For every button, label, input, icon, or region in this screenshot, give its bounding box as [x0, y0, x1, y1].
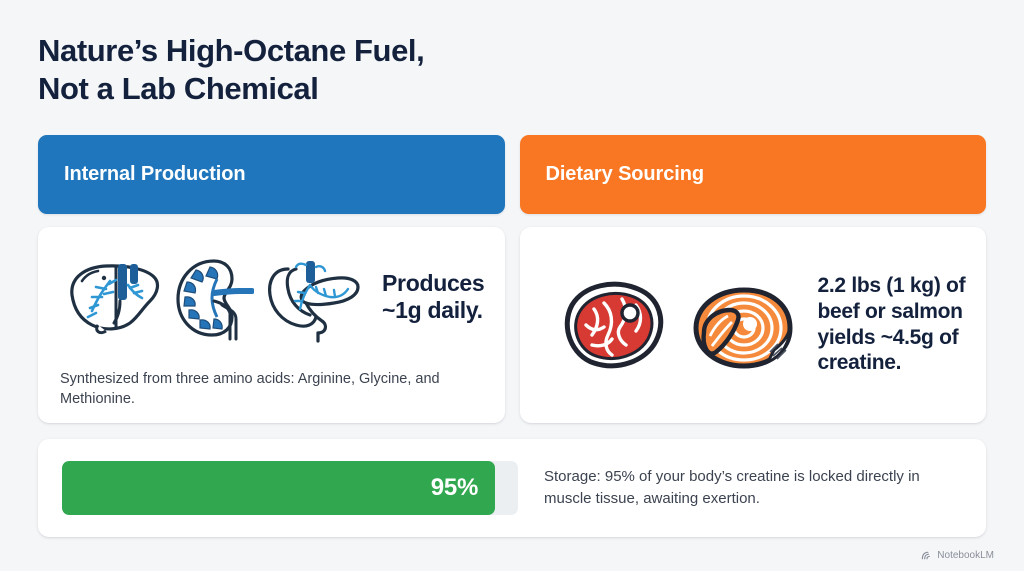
kidney-icon [170, 251, 254, 343]
storage-progress-fill: 95% [62, 461, 495, 515]
dietary-sourcing-headline: 2.2 lbs (1 kg) of beef or salmon yields … [818, 273, 967, 375]
storage-progress-wrapper: 95% [62, 461, 518, 515]
storage-progress-label: 95% [431, 474, 478, 502]
food-icon-row: 2.2 lbs (1 kg) of beef or salmon yields … [542, 245, 967, 405]
storage-progress-track: 95% [62, 461, 518, 515]
liver-icon [60, 251, 164, 343]
column-dietary-sourcing: Dietary Sourcing [520, 135, 987, 423]
steak-icon [542, 265, 670, 385]
pancreas-icon [260, 251, 364, 343]
columns-container: Internal Production [38, 135, 986, 423]
card-storage: 95% Storage: 95% of your body’s creatine… [38, 439, 986, 537]
page-title-line-2: Not a Lab Chemical [38, 70, 986, 108]
watermark: NotebookLM [921, 550, 994, 561]
column-header-label: Internal Production [64, 163, 245, 186]
slide-root: Nature’s High-Octane Fuel, Not a Lab Che… [0, 0, 1024, 571]
organ-icon-row: Produces ~1g daily. [60, 251, 485, 343]
column-header-label: Dietary Sourcing [546, 163, 704, 186]
internal-production-headline: Produces ~1g daily. [382, 270, 484, 324]
page-title: Nature’s High-Octane Fuel, Not a Lab Che… [38, 32, 986, 108]
column-header-internal-production: Internal Production [38, 135, 505, 214]
salmon-steak-icon [678, 266, 798, 384]
notebooklm-logo-icon [921, 550, 932, 561]
card-internal-production: Produces ~1g daily. Synthesized from thr… [38, 227, 505, 423]
column-header-dietary-sourcing: Dietary Sourcing [520, 135, 987, 214]
internal-production-note: Synthesized from three amino acids: Argi… [60, 369, 485, 410]
storage-description: Storage: 95% of your body’s creatine is … [544, 466, 962, 510]
card-dietary-sourcing: 2.2 lbs (1 kg) of beef or salmon yields … [520, 227, 987, 423]
page-title-line-1: Nature’s High-Octane Fuel, [38, 32, 986, 70]
watermark-label: NotebookLM [937, 550, 994, 561]
column-internal-production: Internal Production [38, 135, 505, 423]
